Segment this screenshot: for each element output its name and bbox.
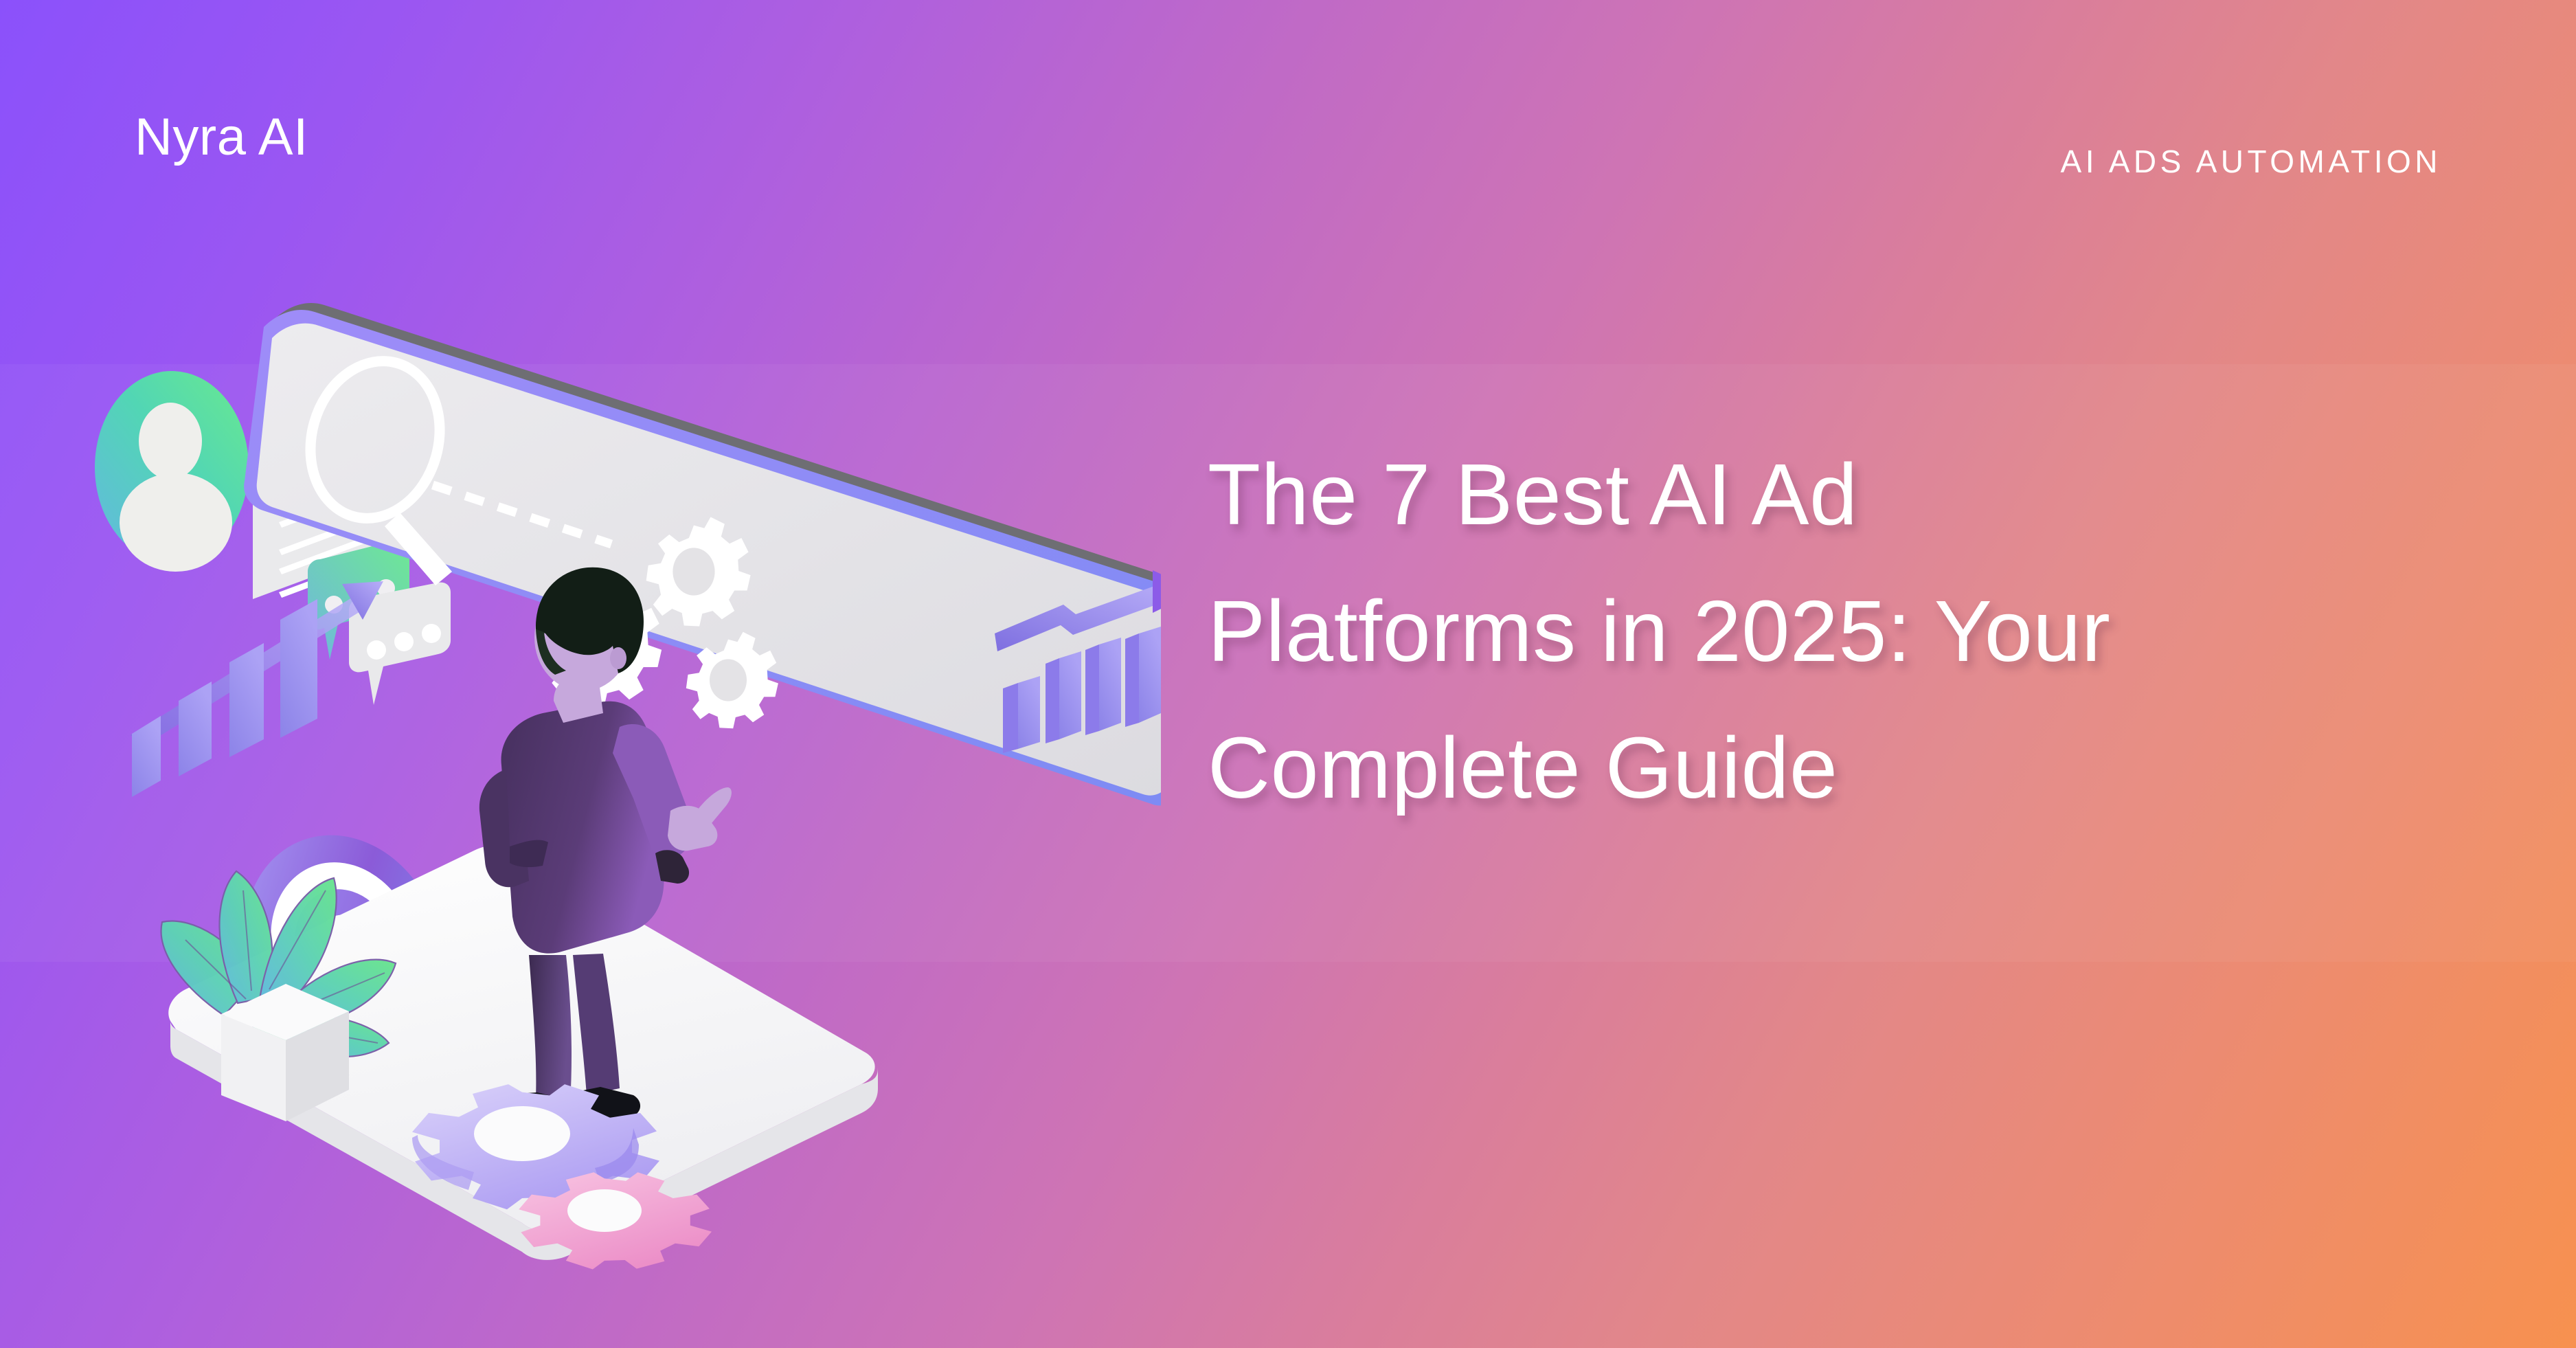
page-title: The 7 Best AI Ad Platforms in 2025: Your… [1208, 426, 2499, 836]
category-kicker: AI ADS AUTOMATION [2061, 143, 2441, 180]
hero-illustration [89, 261, 1161, 1278]
bar-chart-icon [131, 581, 383, 797]
brand-logo-text: Nyra AI [135, 109, 308, 166]
headline-line-2: Platforms in 2025: Your [1208, 563, 2499, 699]
hero-banner: Nyra AI AI ADS AUTOMATION The 7 Best AI … [0, 0, 2576, 1348]
headline-line-1: The 7 Best AI Ad [1208, 426, 2499, 563]
user-avatar-icon [95, 371, 249, 572]
headline-line-3: Complete Guide [1208, 699, 2499, 836]
